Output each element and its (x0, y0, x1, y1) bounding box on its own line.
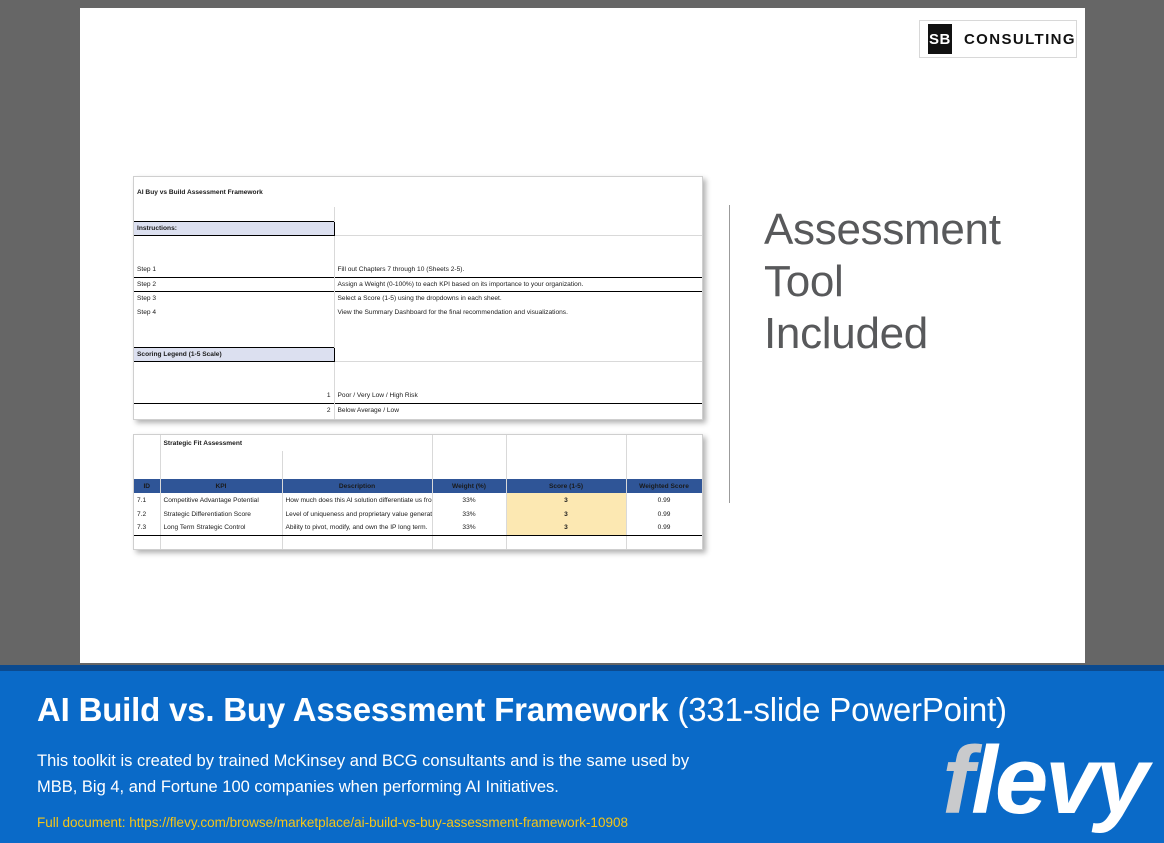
table-row (134, 249, 702, 263)
cell-weighted-score: 0.99 (626, 521, 702, 535)
cell-id: 7.1 (134, 493, 160, 507)
legend-text: Below Average / Low (334, 403, 702, 417)
cell-description: Level of uniqueness and proprietary valu… (282, 507, 432, 521)
headline-line-1: Assessment (764, 204, 1064, 256)
strategic-fit-table: Strategic Fit Assessment ID KPI Descript… (134, 435, 703, 550)
cell-description: Ability to pivot, modify, and own the IP… (282, 521, 432, 535)
scoring-legend-header: Scoring Legend (1-5 Scale) (134, 347, 334, 361)
table-row: Step 1 Fill out Chapters 7 through 10 (S… (134, 263, 702, 277)
table-row: 7.1 Competitive Advantage Potential How … (134, 493, 702, 507)
instructions-header: Instructions: (134, 221, 334, 235)
table-row: Step 3 Select a Score (1-5) using the dr… (134, 291, 702, 305)
banner-description-line-1: This toolkit is created by trained McKin… (37, 749, 837, 775)
table-row (134, 235, 702, 249)
banner-title: AI Build vs. Buy Assessment Framework (3… (37, 691, 1007, 729)
screenshot-root: SB CONSULTING Assessment Tool Included A… (0, 0, 1164, 843)
table-row: AI Buy vs Build Assessment Framework (134, 177, 702, 207)
legend-text: Average / Moderate (334, 417, 702, 420)
table-header-row: ID KPI Description Weight (%) Score (1-5… (134, 479, 702, 493)
sb-logo-mark: SB (928, 24, 952, 54)
step-text: Assign a Weight (0-100%) to each KPI bas… (334, 277, 702, 291)
instructions-table: AI Buy vs Build Assessment Framework Ins… (134, 177, 703, 420)
legend-score: 3 (134, 417, 334, 420)
step-label: Step 1 (134, 263, 334, 277)
headline-line-3: Included (764, 308, 1064, 360)
cell-id: 7.3 (134, 521, 160, 535)
flevy-promo-banner: AI Build vs. Buy Assessment Framework (3… (0, 665, 1164, 843)
cell-weight: 33% (432, 493, 506, 507)
flevy-logo-rest: levy (971, 727, 1146, 834)
full-document-link[interactable]: Full document: https://flevy.com/browse/… (37, 815, 628, 830)
table-row: 7.2 Strategic Differentiation Score Leve… (134, 507, 702, 521)
column-header-score: Score (1-5) (506, 479, 626, 493)
table-row: Scoring Legend (1-5 Scale) (134, 347, 702, 361)
column-header-weight: Weight (%) (432, 479, 506, 493)
table-row (134, 207, 702, 221)
cell-score[interactable]: 3 (506, 521, 626, 535)
banner-title-main: AI Build vs. Buy Assessment Framework (37, 691, 668, 728)
table-row (134, 375, 702, 389)
column-header-weighted-score: Weighted Score (626, 479, 702, 493)
flevy-logo: flevy (942, 733, 1146, 829)
table-row: 2 Below Average / Low (134, 403, 702, 417)
legend-score: 1 (134, 389, 334, 403)
step-text: Select a Score (1-5) using the dropdowns… (334, 291, 702, 305)
table-row: 3 Average / Moderate (134, 417, 702, 420)
table-row (134, 535, 702, 549)
cell-score[interactable]: 3 (506, 493, 626, 507)
total-score-value: 2.97 (626, 549, 702, 550)
banner-description-line-2: MBB, Big 4, and Fortune 100 companies wh… (37, 775, 837, 801)
cell-weighted-score: 0.99 (626, 493, 702, 507)
step-text: View the Summary Dashboard for the final… (334, 305, 702, 319)
page-title: Assessment Tool Included (764, 204, 1064, 360)
total-score-label: Total Score: (432, 549, 626, 550)
excel-screenshot-instructions: AI Buy vs Build Assessment Framework Ins… (133, 176, 703, 420)
table-row: Step 4 View the Summary Dashboard for th… (134, 305, 702, 319)
cell-weight: 33% (432, 521, 506, 535)
sheet-title: AI Buy vs Build Assessment Framework (134, 177, 702, 207)
banner-description: This toolkit is created by trained McKin… (37, 749, 837, 800)
flevy-logo-f: f (942, 727, 971, 834)
headline-line-2: Tool (764, 256, 1064, 308)
table-row: Instructions: (134, 221, 702, 235)
cell-score[interactable]: 3 (506, 507, 626, 521)
table-row: 1 Poor / Very Low / High Risk (134, 389, 702, 403)
step-text: Fill out Chapters 7 through 10 (Sheets 2… (334, 263, 702, 277)
cell-weighted-score: 0.99 (626, 507, 702, 521)
cell-description: How much does this AI solution different… (282, 493, 432, 507)
column-header-description: Description (282, 479, 432, 493)
table-row (134, 319, 702, 333)
column-header-kpi: KPI (160, 479, 282, 493)
cell-kpi: Competitive Advantage Potential (160, 493, 282, 507)
cell-kpi: Strategic Differentiation Score (160, 507, 282, 521)
table-row (134, 451, 702, 465)
cell-weight: 33% (432, 507, 506, 521)
sheet-title: Strategic Fit Assessment (160, 435, 432, 451)
table-row: Step 2 Assign a Weight (0-100%) to each … (134, 277, 702, 291)
step-label: Step 4 (134, 305, 334, 319)
step-label: Step 3 (134, 291, 334, 305)
table-row: Total Score: 2.97 (134, 549, 702, 550)
legend-score: 2 (134, 403, 334, 417)
excel-screenshot-strategic-fit: Strategic Fit Assessment ID KPI Descript… (133, 434, 703, 550)
table-row: 7.3 Long Term Strategic Control Ability … (134, 521, 702, 535)
table-row: Strategic Fit Assessment (134, 435, 702, 451)
cell-id: 7.2 (134, 507, 160, 521)
sb-logo-wordmark: CONSULTING (964, 31, 1076, 48)
step-label: Step 2 (134, 277, 334, 291)
table-row (134, 361, 702, 375)
legend-text: Poor / Very Low / High Risk (334, 389, 702, 403)
column-header-id: ID (134, 479, 160, 493)
sb-consulting-logo: SB CONSULTING (919, 20, 1077, 58)
cell-kpi: Long Term Strategic Control (160, 521, 282, 535)
slide-canvas: SB CONSULTING Assessment Tool Included A… (80, 8, 1085, 663)
banner-title-sub: (331-slide PowerPoint) (677, 691, 1006, 728)
vertical-divider (729, 205, 730, 503)
table-row (134, 333, 702, 347)
table-row (134, 465, 702, 479)
